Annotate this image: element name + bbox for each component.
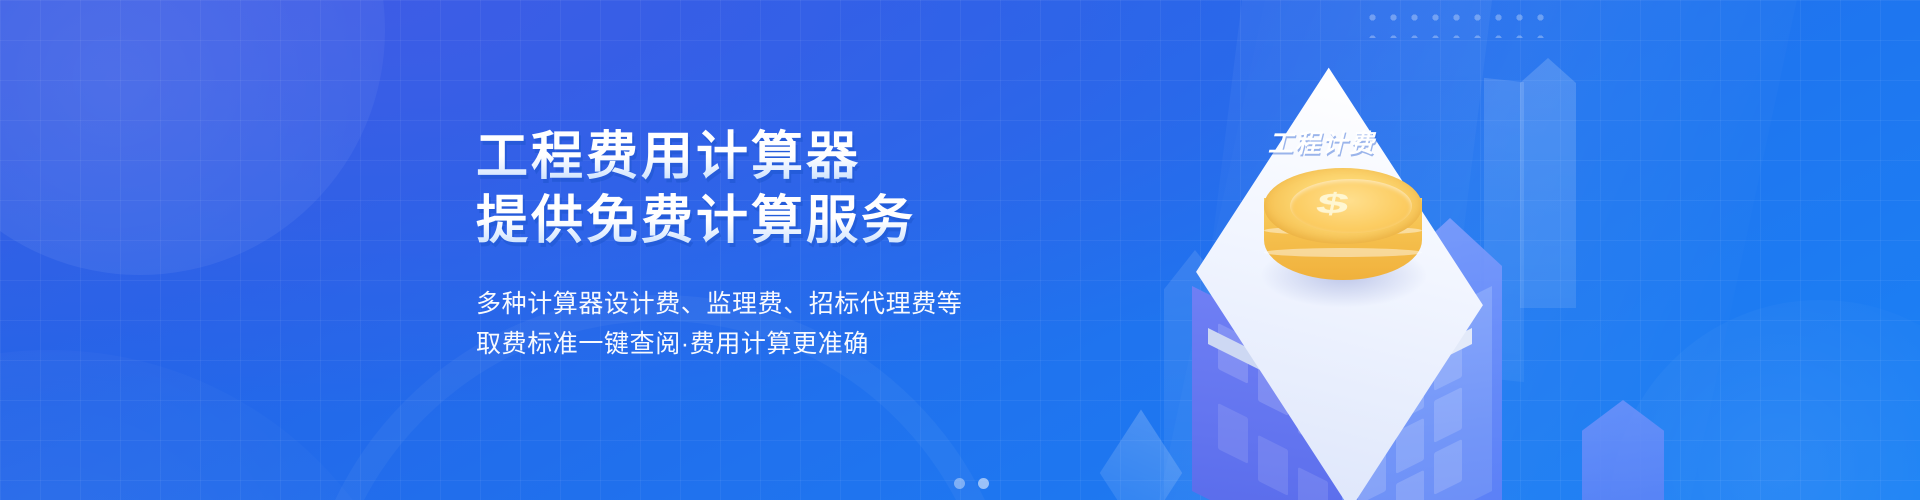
coin-stack-icon: $ <box>1256 168 1430 318</box>
banner-illustration: $ 工程计费 <box>1080 0 1700 500</box>
carousel-dot-1[interactable] <box>954 478 965 489</box>
carousel-dot-2[interactable] <box>978 478 989 489</box>
banner-copy: 工程费用计算器 提供免费计算服务 多种计算器设计费、监理费、招标代理费等 取费标… <box>476 128 1096 364</box>
subtitle-block: 多种计算器设计费、监理费、招标代理费等 取费标准一键查阅·费用计算更准确 <box>476 284 1096 364</box>
coin-top-face: $ <box>1264 168 1422 244</box>
headline-line-1: 工程费用计算器 <box>476 128 1096 186</box>
promo-banner: 工程费用计算器 提供免费计算服务 多种计算器设计费、监理费、招标代理费等 取费标… <box>0 0 1920 500</box>
headline-line-2: 提供免费计算服务 <box>476 192 1096 250</box>
illustration-label: 工程计费 <box>1268 124 1376 160</box>
dollar-sign-icon: $ <box>1314 189 1352 218</box>
decorative-circle-top-left <box>0 0 385 275</box>
carousel-indicators[interactable] <box>0 478 1920 489</box>
subtitle-line-2: 取费标准一键查阅·费用计算更准确 <box>476 324 1096 364</box>
coin-stripe-2 <box>1264 248 1422 257</box>
subtitle-line-1: 多种计算器设计费、监理费、招标代理费等 <box>476 284 1096 324</box>
